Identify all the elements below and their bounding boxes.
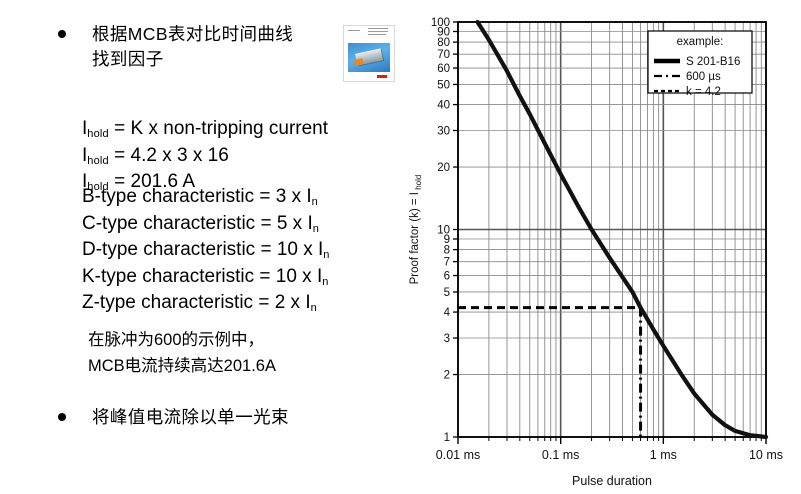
characteristic-c-text: C-type characteristic = 5 x I — [82, 213, 313, 234]
ytick-label: 40 — [437, 100, 450, 112]
legend-label-1: 600 µs — [686, 71, 721, 83]
legend-label-2: k = 4.2 — [686, 86, 721, 98]
characteristic-line-z: Z-type characteristic = 2 x In — [82, 291, 329, 318]
characteristic-z-text: Z-type characteristic = 2 x I — [82, 292, 311, 313]
xtick-label: 0.1 ms — [542, 448, 580, 462]
ytick-label: 60 — [437, 63, 450, 75]
ytick-label: 100 — [431, 17, 450, 29]
ytick-label: 20 — [437, 162, 450, 174]
thumbnail-photo — [348, 43, 390, 72]
ytick-label: 4 — [444, 307, 451, 319]
ytick-label: 3 — [444, 333, 450, 345]
xtick-label: 1 ms — [650, 448, 677, 462]
ytick-label: 5 — [444, 287, 450, 299]
characteristic-b-text: B-type characteristic = 3 x I — [82, 186, 312, 207]
ytick-label: 50 — [437, 79, 450, 91]
y-axis-title: Proof factor (k) = I hold — [409, 175, 423, 285]
characteristic-line-c: C-type characteristic = 5 x In — [82, 212, 329, 239]
formula-1-rest: = K x non-tripping current — [109, 118, 328, 139]
formula-2-rest: = 4.2 x 3 x 16 — [109, 145, 229, 166]
thumbnail-text-lines — [348, 30, 390, 42]
ytick-label: 10 — [437, 225, 450, 237]
bullet-item-2-label: 将峰值电流除以单一光束 — [92, 405, 289, 430]
example-note: 在脉冲为600的示例中， MCB电流持续高达201.6A — [88, 327, 276, 379]
characteristic-line-k: K-type characteristic = 10 x In — [82, 265, 329, 292]
characteristic-k-text: K-type characteristic = 10 x I — [82, 266, 322, 287]
ytick-label: 1 — [444, 432, 450, 444]
ytick-label: 2 — [444, 370, 450, 382]
proof-factor-chart: 1234567891020304050607080901000.01 ms0.1… — [400, 0, 801, 494]
characteristic-k-sub: n — [322, 276, 328, 288]
thumbnail-accent — [353, 58, 363, 66]
characteristic-d-text: D-type characteristic = 10 x I — [82, 239, 323, 260]
ytick-label: 6 — [444, 271, 450, 283]
ytick-label: 80 — [437, 37, 450, 49]
datasheet-thumbnail — [343, 25, 395, 82]
characteristic-c-sub: n — [313, 223, 319, 235]
characteristic-line-b: B-type characteristic = 3 x In — [82, 185, 329, 212]
formula-line-1: Ihold = K x non-tripping current — [82, 117, 328, 144]
bullet-dot-icon — [58, 30, 66, 38]
slide-content-pane: 根据MCB表对比时间曲线 找到因子 Ihold = K x non-trippi… — [0, 0, 400, 494]
x-axis-title: Pulse duration — [572, 474, 652, 488]
formula-line-2: Ihold = 4.2 x 3 x 16 — [82, 144, 328, 171]
legend-label-0: S 201-B16 — [686, 56, 740, 68]
formula-1-sub: hold — [87, 128, 109, 140]
characteristic-list: B-type characteristic = 3 x In C-type ch… — [82, 185, 329, 318]
chart-svg: 1234567891020304050607080901000.01 ms0.1… — [400, 0, 801, 494]
bullet-item-1-label: 根据MCB表对比时间曲线 找到因子 — [92, 22, 293, 72]
characteristic-b-sub: n — [312, 196, 318, 208]
ytick-label: 7 — [444, 257, 450, 269]
bullet-dot-icon — [58, 413, 66, 421]
ytick-label: 30 — [437, 125, 450, 137]
bullet-item-2: 将峰值电流除以单一光束 — [58, 405, 289, 430]
bullet-item-1: 根据MCB表对比时间曲线 找到因子 — [58, 22, 293, 72]
xtick-label: 10 ms — [749, 448, 783, 462]
legend-title: example: — [677, 36, 724, 48]
ytick-label: 70 — [437, 49, 450, 61]
characteristic-d-sub: n — [323, 249, 329, 261]
formula-2-sub: hold — [87, 155, 109, 167]
characteristic-z-sub: n — [311, 302, 317, 314]
ytick-label: 8 — [444, 245, 450, 257]
xtick-label: 0.01 ms — [436, 448, 480, 462]
characteristic-line-d: D-type characteristic = 10 x In — [82, 238, 329, 265]
thumbnail-red-bar — [377, 75, 387, 78]
